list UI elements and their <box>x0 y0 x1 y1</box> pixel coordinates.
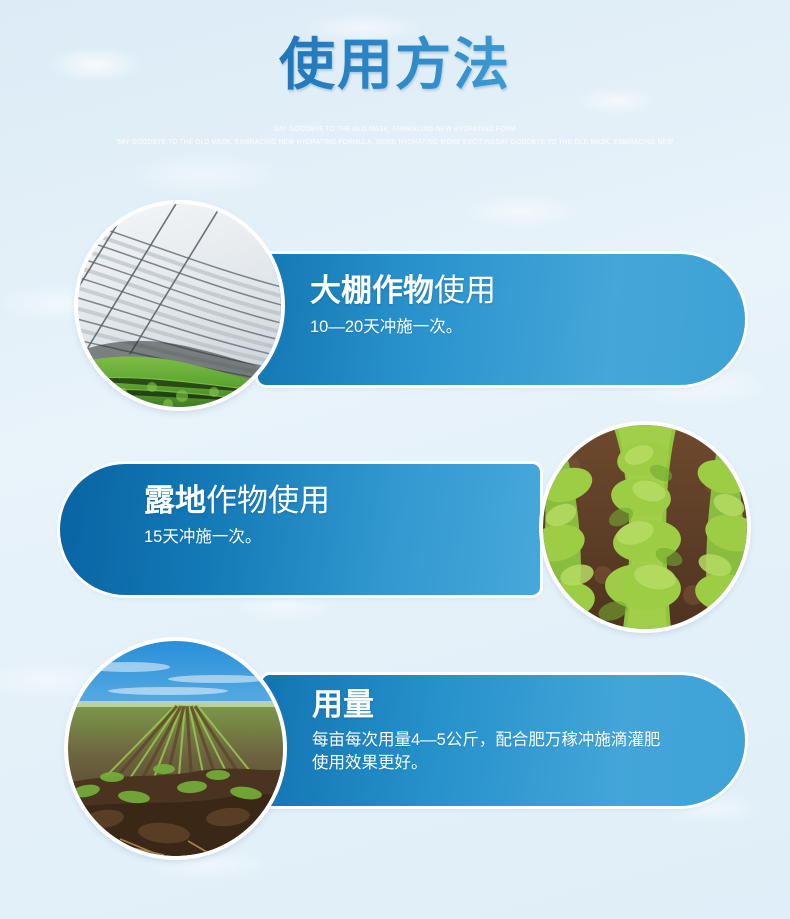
section-heading-dosage: 用量 <box>312 675 725 724</box>
leafy-vegetable-rows-photo: 露地绿色叶菜成行生长在褐色土壤中 <box>543 425 747 629</box>
greenhouse-interior-photo: 温室大棚内部，白色弧形骨架，地面绿色作物 <box>78 204 281 407</box>
section-description-line-2: 使用效果更好。 <box>312 754 428 772</box>
subtitle-line-2: SAY GOODBYE TO THE OLD MASK, EMBRACING N… <box>32 136 759 149</box>
section-panel-openground: 露地作物使用 15天冲施一次。 <box>60 464 540 595</box>
subtitle-block: SAY GOODBYE TO THE OLD MASK, EMBRACING N… <box>0 123 790 149</box>
section-heading-rest: 使用 <box>434 273 496 308</box>
page-title: 使用方法 <box>0 0 790 97</box>
section-heading-rest: 作物使用 <box>206 483 330 518</box>
section-description-openground: 15天冲施一次。 <box>144 520 520 549</box>
section-heading-openground: 露地作物使用 <box>144 464 520 520</box>
section-description-line-1: 每亩每次用量4—5公斤，配合肥万稼冲施滴灌肥 <box>312 731 660 749</box>
section-description-greenhouse: 10—20天冲施一次。 <box>310 310 725 339</box>
section-description-dosage: 每亩每次用量4—5公斤，配合肥万稼冲施滴灌肥 使用效果更好。 <box>312 724 725 776</box>
page-header: 使用方法 SAY GOODBYE TO THE OLD MASK, EMBRAC… <box>0 0 790 149</box>
section-panel-greenhouse: 大棚作物使用 10—20天冲施一次。 <box>258 254 745 385</box>
open-field-seedlings-photo: 蓝天下的开阔农田，深褐色耕地上成行的幼苗 <box>68 641 283 856</box>
section-content-greenhouse: 大棚作物使用 10—20天冲施一次。 <box>310 254 725 385</box>
section-heading-strong: 露地 <box>144 483 206 518</box>
section-heading-greenhouse: 大棚作物使用 <box>310 254 725 310</box>
subtitle-line-1: SAY GOODBYE TO THE OLD MASK, EMBRACING N… <box>32 123 759 136</box>
section-panel-dosage: 用量 每亩每次用量4—5公斤，配合肥万稼冲施滴灌肥 使用效果更好。 <box>262 675 745 806</box>
section-heading-strong: 用量 <box>312 687 374 722</box>
section-heading-strong: 大棚作物 <box>310 273 434 308</box>
section-content-dosage: 用量 每亩每次用量4—5公斤，配合肥万稼冲施滴灌肥 使用效果更好。 <box>312 675 725 806</box>
page-root: 使用方法 SAY GOODBYE TO THE OLD MASK, EMBRAC… <box>0 0 790 919</box>
section-content-openground: 露地作物使用 15天冲施一次。 <box>144 464 520 595</box>
